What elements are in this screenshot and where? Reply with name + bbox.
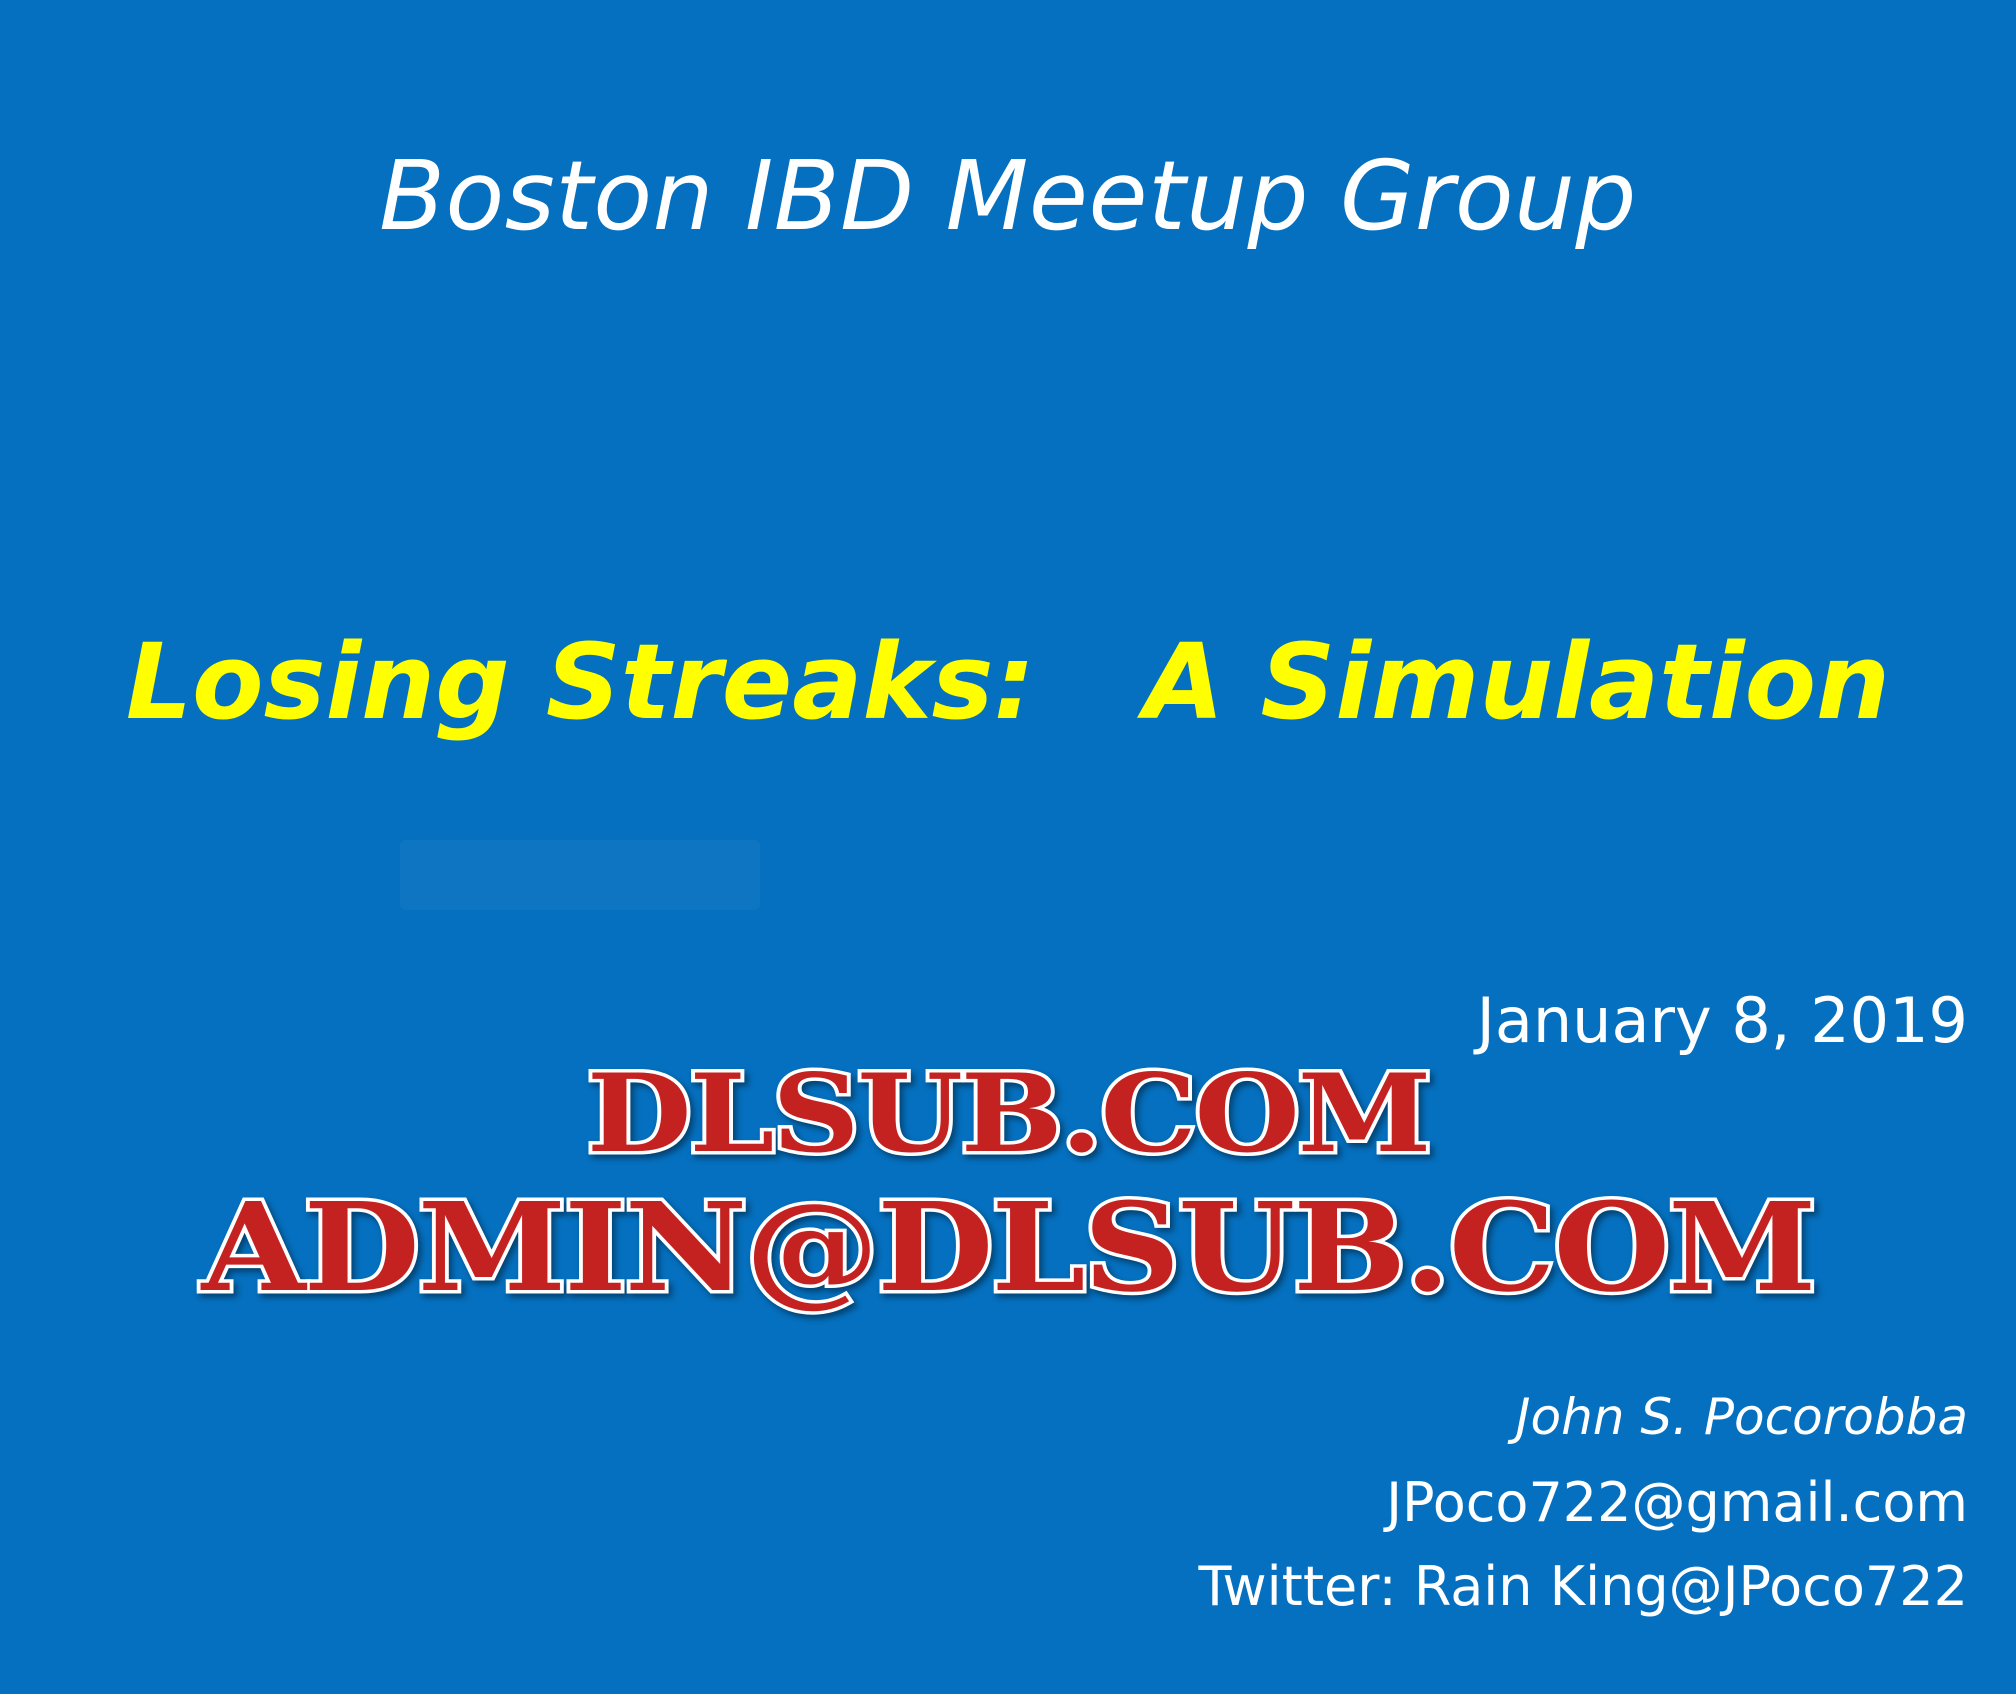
watermark-email-text: ADMIN@DLSUB.COM xyxy=(0,1186,2016,1308)
author-twitter: Twitter: Rain King@JPoco722 xyxy=(1198,1560,1968,1614)
slide-title: Losing Streaks: A Simulation xyxy=(0,630,2016,734)
watermark-overlay: DLSUB.COM ADMIN@DLSUB.COM xyxy=(0,1060,2016,1308)
author-name: John S. Pocorobba xyxy=(1198,1392,1968,1442)
watermark-site-text: DLSUB.COM xyxy=(0,1060,2016,1168)
slide-date: January 8, 2019 xyxy=(1477,990,1968,1052)
background-artifact xyxy=(400,840,760,910)
presentation-slide: Boston IBD Meetup Group Losing Streaks: … xyxy=(0,0,2016,1694)
contact-info: John S. Pocorobba JPoco722@gmail.com Twi… xyxy=(1198,1392,1968,1614)
author-email: JPoco722@gmail.com xyxy=(1198,1476,1968,1530)
slide-heading: Boston IBD Meetup Group xyxy=(0,148,2016,244)
